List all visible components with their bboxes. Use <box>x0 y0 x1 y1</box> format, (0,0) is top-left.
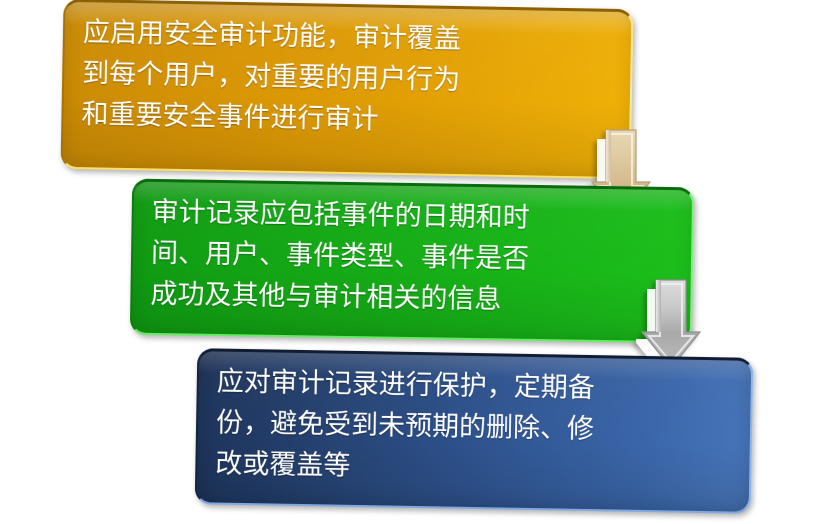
process-box-step-3[interactable]: 应对审计记录进行保护，定期备 份，避免受到未预期的删除、修 改或覆盖等 <box>195 348 754 514</box>
process-box-step-1-face: 应启用安全审计功能，审计覆盖 到每个用户，对重要的用户行为 和重要安全事件进行审… <box>60 0 633 179</box>
process-box-step-1-text: 应启用安全审计功能，审计覆盖 到每个用户，对重要的用户行为 和重要安全事件进行审… <box>81 12 617 145</box>
process-box-step-2[interactable]: 审计记录应包括事件的日期和时 间、用户、事件类型、事件是否 成功及其他与审计相关… <box>130 179 694 344</box>
process-box-step-3-text: 应对审计记录进行保护，定期备 份，避免受到未预期的删除、修 改或覆盖等 <box>215 362 737 494</box>
process-box-step-1[interactable]: 应启用安全审计功能，审计覆盖 到每个用户，对重要的用户行为 和重要安全事件进行审… <box>60 0 633 179</box>
process-box-step-2-text: 审计记录应包括事件的日期和时 间、用户、事件类型、事件是否 成功及其他与审计相关… <box>150 192 678 323</box>
diagram-canvas: 应启用安全审计功能，审计覆盖 到每个用户，对重要的用户行为 和重要安全事件进行审… <box>0 0 816 524</box>
process-box-step-2-face: 审计记录应包括事件的日期和时 间、用户、事件类型、事件是否 成功及其他与审计相关… <box>130 179 694 344</box>
process-box-step-3-face: 应对审计记录进行保护，定期备 份，避免受到未预期的删除、修 改或覆盖等 <box>195 348 754 514</box>
